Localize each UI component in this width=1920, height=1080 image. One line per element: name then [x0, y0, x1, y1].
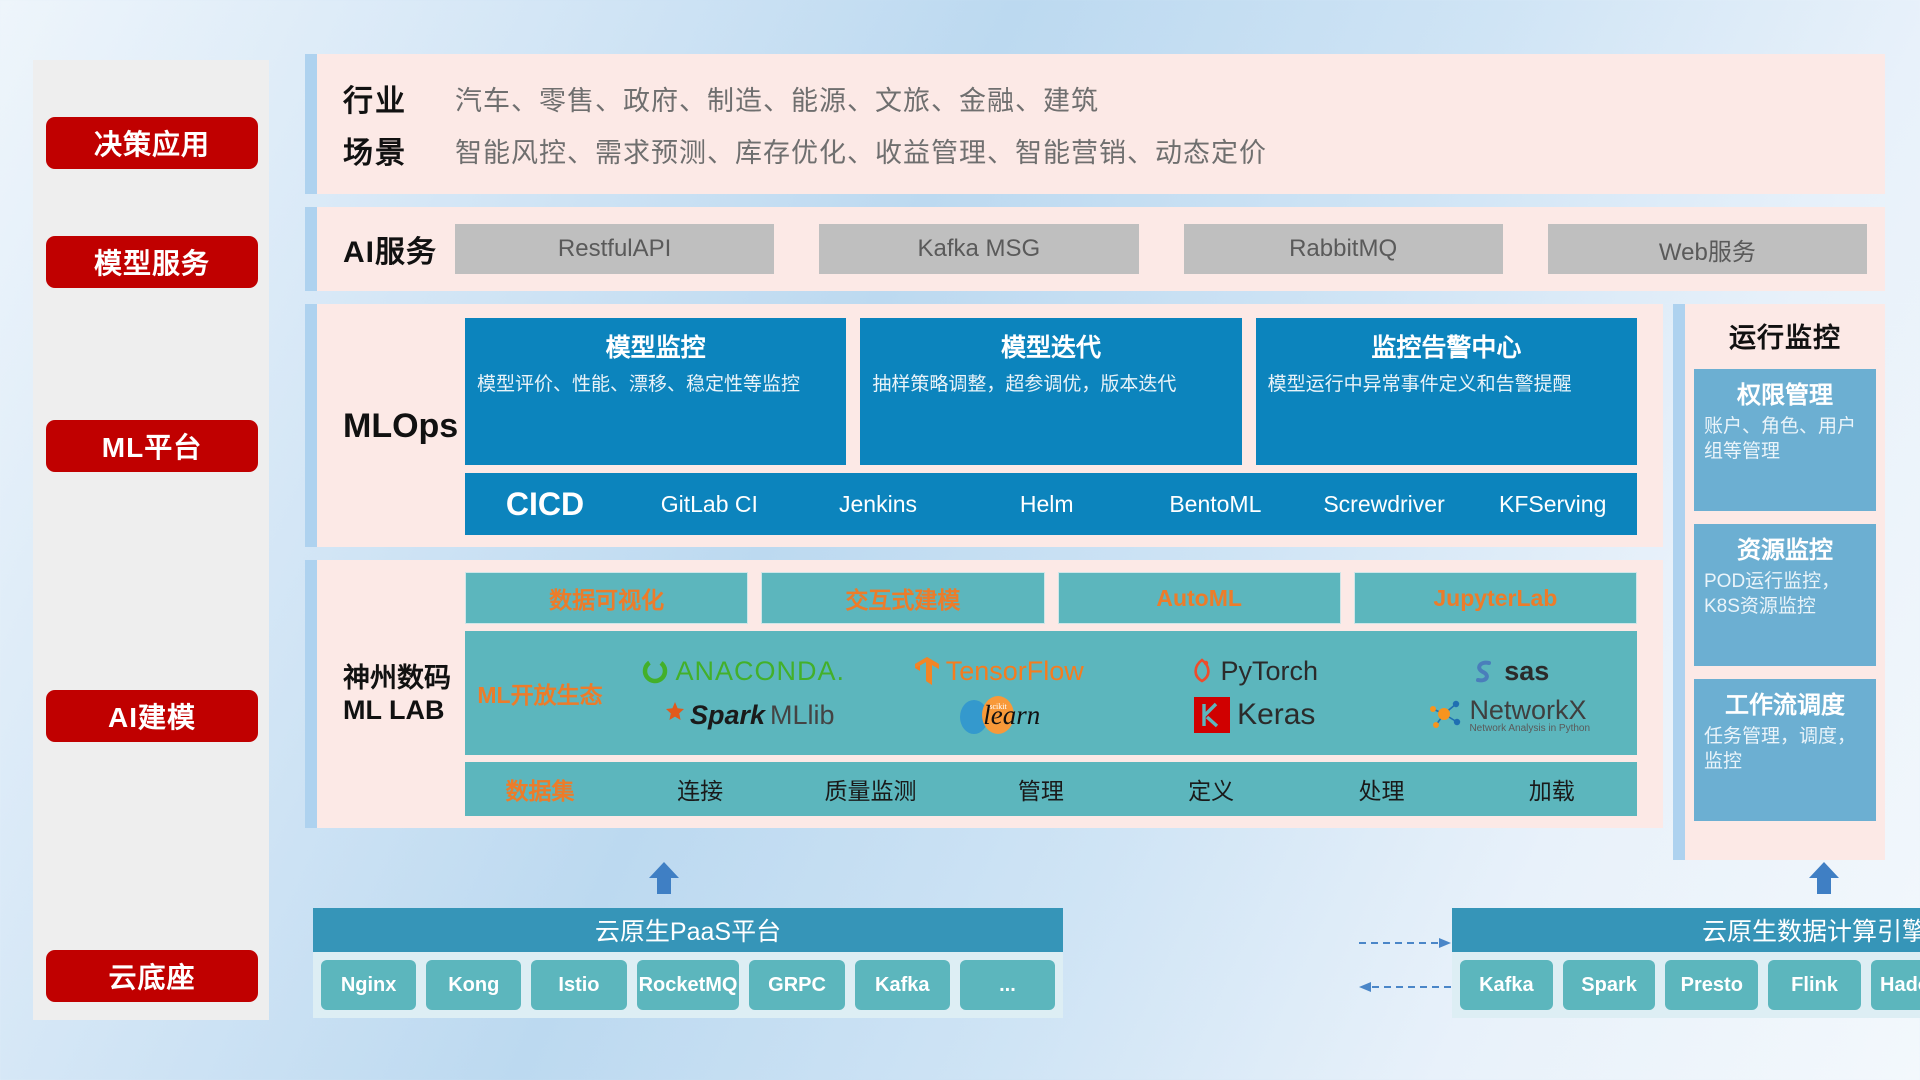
card-title: 监控告警中心 [1268, 328, 1625, 364]
card-title: 工作流调度 [1704, 685, 1866, 720]
cicd-item[interactable]: Jenkins [794, 493, 963, 516]
ai-services-label: AI服务 [343, 227, 455, 271]
data-engine-chip[interactable]: Spark [1563, 960, 1656, 1010]
mlops-band: MLOps 模型监控 模型评价、性能、漂移、稳定性等监控 模型迭代 抽样策略调整… [305, 304, 1663, 547]
cicd-item[interactable]: Screwdriver [1300, 493, 1469, 516]
cloud-data-engine-group: 云原生数据计算引擎 Kafka Spark Presto Flink Hadoo… [1452, 908, 1920, 1018]
paas-chip[interactable]: GRPC [749, 960, 844, 1010]
dataset-label: 数据集 [465, 772, 615, 806]
dataset-items: 连接 质量监测 管理 定义 处理 加载 [615, 772, 1637, 806]
up-arrow-icon-left [645, 862, 683, 894]
ai-service-chip[interactable]: RabbitMQ [1184, 224, 1503, 274]
card-desc: 任务管理，调度，监控 [1704, 725, 1866, 774]
card-title: 模型迭代 [872, 328, 1229, 364]
cloud-base-zone: 云原生PaaS平台 Nginx Kong Istio RocketMQ GRPC… [305, 890, 1885, 1038]
mlops-card-model-iteration[interactable]: 模型迭代 抽样策略调整，超参调优，版本迭代 [860, 318, 1241, 465]
ml-lab-line2: ML LAB [343, 695, 445, 725]
cicd-item[interactable]: BentoML [1131, 493, 1300, 516]
keras-icon [1192, 695, 1232, 735]
ml-lab-label: 神州数码 ML LAB [343, 572, 465, 816]
data-engine-chip[interactable]: Flink [1768, 960, 1861, 1010]
ai-modeling-content: 数据可视化 交互式建模 AutoML JupyterLab ML开放生态 [465, 572, 1637, 816]
mlops-content: 模型监控 模型评价、性能、漂移、稳定性等监控 模型迭代 抽样策略调整，超参调优，… [465, 318, 1637, 535]
paas-chip-more[interactable]: ... [960, 960, 1055, 1010]
card-desc: 模型运行中异常事件定义和告警提醒 [1268, 372, 1625, 398]
logo-label: NetworkX [1469, 697, 1590, 724]
data-engine-title: 云原生数据计算引擎 [1452, 908, 1920, 952]
cloud-paas-group: 云原生PaaS平台 Nginx Kong Istio RocketMQ GRPC… [313, 908, 1063, 1018]
spark-icon [651, 700, 685, 730]
data-engine-chip[interactable]: Presto [1665, 960, 1758, 1010]
ai-service-chip[interactable]: RestfulAPI [455, 224, 774, 274]
logo-keras: Keras [1126, 695, 1382, 735]
tier-badge-decision-app[interactable]: 决策应用 [46, 117, 258, 169]
tier-badge-ml-platform[interactable]: ML平台 [46, 420, 258, 472]
tier-rail: 决策应用 模型服务 ML平台 AI建模 云底座 [33, 60, 269, 1020]
logo-label: TensorFlow [946, 656, 1084, 687]
logo-anaconda: ANACONDA. [615, 656, 871, 687]
networkx-icon [1428, 698, 1464, 732]
data-engine-chip[interactable]: Hadoop [1871, 960, 1920, 1010]
cicd-item[interactable]: GitLab CI [625, 493, 794, 516]
paas-chip[interactable]: RocketMQ [637, 960, 740, 1010]
card-title: 权限管理 [1704, 375, 1866, 410]
logo-label: learn [983, 700, 1040, 731]
ai-services-chips: RestfulAPI Kafka MSG RabbitMQ Web服务 [455, 224, 1885, 274]
dataset-item[interactable]: 加载 [1467, 772, 1637, 806]
tier-badge-ai-modeling[interactable]: AI建模 [46, 690, 258, 742]
logo-label: ANACONDA. [675, 656, 845, 687]
dataset-item[interactable]: 管理 [956, 772, 1126, 806]
ai-services-band: AI服务 RestfulAPI Kafka MSG RabbitMQ Web服务 [305, 207, 1885, 291]
card-desc: 模型评价、性能、漂移、稳定性等监控 [477, 372, 834, 398]
data-engine-chips: Kafka Spark Presto Flink Hadoop Storm ..… [1452, 952, 1920, 1018]
mlops-label: MLOps [343, 318, 465, 535]
architecture-main: 行业 汽车、零售、政府、制造、能源、文旅、金融、建筑 场景 智能风控、需求预测、… [305, 54, 1885, 860]
paas-chip[interactable]: Istio [531, 960, 626, 1010]
monitoring-column: 运行监控 权限管理 账户、角色、用户组等管理 资源监控 POD运行监控，K8S资… [1673, 304, 1885, 860]
tier-badge-cloud-base[interactable]: 云底座 [46, 950, 258, 1002]
monitoring-title: 运行监控 [1694, 316, 1876, 355]
paas-chip[interactable]: Nginx [321, 960, 416, 1010]
ml-open-ecosystem-row: ML开放生态 ANACONDA. [465, 631, 1637, 754]
tensorflow-icon [913, 655, 941, 687]
cicd-title: CICD [465, 486, 625, 523]
logo-sublabel: Network Analysis in Python [1469, 724, 1590, 734]
tool-chip-automl[interactable]: AutoML [1058, 572, 1341, 624]
industry-row: 行业 汽车、零售、政府、制造、能源、文旅、金融、建筑 [343, 72, 1885, 124]
anaconda-icon [640, 656, 670, 686]
ecosystem-logos: ANACONDA. TensorFlow [615, 649, 1637, 737]
dataset-row: 数据集 连接 质量监测 管理 定义 处理 加载 [465, 762, 1637, 816]
bidirectional-link-icon [1355, 925, 1455, 1003]
mlops-cards: 模型监控 模型评价、性能、漂移、稳定性等监控 模型迭代 抽样策略调整，超参调优，… [465, 318, 1637, 465]
cicd-row: CICD GitLab CI Jenkins Helm BentoML Scre… [465, 473, 1637, 535]
logo-label: sas [1504, 656, 1549, 687]
scenario-label: 场景 [343, 128, 455, 172]
up-arrow-icon-right [1805, 862, 1843, 894]
tool-chip-data-viz[interactable]: 数据可视化 [465, 572, 748, 624]
dataset-item[interactable]: 处理 [1296, 772, 1466, 806]
monitoring-card-workflow[interactable]: 工作流调度 任务管理，调度，监控 [1694, 679, 1876, 821]
cicd-item[interactable]: Helm [962, 493, 1131, 516]
cicd-items: GitLab CI Jenkins Helm BentoML Screwdriv… [625, 493, 1637, 516]
card-desc: 抽样策略调整，超参调优，版本迭代 [872, 372, 1229, 398]
paas-chips: Nginx Kong Istio RocketMQ GRPC Kafka ... [313, 952, 1063, 1018]
logo-networkx: NetworkX Network Analysis in Python [1382, 697, 1638, 734]
card-title: 资源监控 [1704, 530, 1866, 565]
dataset-item[interactable]: 质量监测 [785, 772, 955, 806]
logo-prefix: Spark [690, 700, 765, 731]
scenario-values: 智能风控、需求预测、库存优化、收益管理、智能营销、动态定价 [455, 131, 1267, 170]
applications-band: 行业 汽车、零售、政府、制造、能源、文旅、金融、建筑 场景 智能风控、需求预测、… [305, 54, 1885, 194]
card-desc: 账户、角色、用户组等管理 [1704, 415, 1866, 464]
modeling-tool-chips: 数据可视化 交互式建模 AutoML JupyterLab [465, 572, 1637, 624]
industry-values: 汽车、零售、政府、制造、能源、文旅、金融、建筑 [455, 79, 1099, 118]
data-engine-chip[interactable]: Kafka [1460, 960, 1553, 1010]
industry-label: 行业 [343, 76, 455, 120]
monitoring-panel: 运行监控 权限管理 账户、角色、用户组等管理 资源监控 POD运行监控，K8S资… [1673, 304, 1885, 860]
logo-spark-mllib: Spark MLlib [615, 700, 871, 731]
monitoring-card-permission[interactable]: 权限管理 账户、角色、用户组等管理 [1694, 369, 1876, 511]
logo-label: Keras [1237, 698, 1315, 732]
ml-lab-line1: 神州数码 [343, 663, 451, 693]
ai-service-chip[interactable]: Kafka MSG [819, 224, 1138, 274]
paas-chip[interactable]: Kong [426, 960, 521, 1010]
logo-label: MLlib [770, 700, 835, 731]
sas-icon [1469, 656, 1499, 686]
ecosystem-label: ML开放生态 [465, 676, 615, 710]
logo-pytorch: PyTorch [1126, 656, 1382, 687]
cicd-item[interactable]: KFServing [1468, 493, 1637, 516]
mlops-card-alert-center[interactable]: 监控告警中心 模型运行中异常事件定义和告警提醒 [1256, 318, 1637, 465]
ai-modeling-band: 神州数码 ML LAB 数据可视化 交互式建模 AutoML JupyterLa… [305, 560, 1663, 828]
logo-sas: sas [1382, 656, 1638, 687]
logo-scikit-learn: scikit learn [871, 693, 1127, 737]
tool-chip-jupyterlab[interactable]: JupyterLab [1354, 572, 1637, 624]
dataset-item[interactable]: 定义 [1126, 772, 1296, 806]
platform-zone: MLOps 模型监控 模型评价、性能、漂移、稳定性等监控 模型迭代 抽样策略调整… [305, 304, 1885, 860]
dataset-item[interactable]: 连接 [615, 772, 785, 806]
tier-badge-model-service[interactable]: 模型服务 [46, 236, 258, 288]
card-desc: POD运行监控，K8S资源监控 [1704, 570, 1866, 619]
tool-chip-interactive-modeling[interactable]: 交互式建模 [761, 572, 1044, 624]
paas-chip[interactable]: Kafka [855, 960, 950, 1010]
pytorch-icon [1189, 656, 1215, 686]
logo-tensorflow: TensorFlow [871, 655, 1127, 687]
mlops-card-model-monitoring[interactable]: 模型监控 模型评价、性能、漂移、稳定性等监控 [465, 318, 846, 465]
paas-title: 云原生PaaS平台 [313, 908, 1063, 952]
scenario-row: 场景 智能风控、需求预测、库存优化、收益管理、智能营销、动态定价 [343, 124, 1885, 176]
monitoring-card-resource[interactable]: 资源监控 POD运行监控，K8S资源监控 [1694, 524, 1876, 666]
logo-label: PyTorch [1220, 656, 1318, 687]
card-title: 模型监控 [477, 328, 834, 364]
platform-left-column: MLOps 模型监控 模型评价、性能、漂移、稳定性等监控 模型迭代 抽样策略调整… [305, 304, 1663, 860]
ai-service-chip[interactable]: Web服务 [1548, 224, 1867, 274]
